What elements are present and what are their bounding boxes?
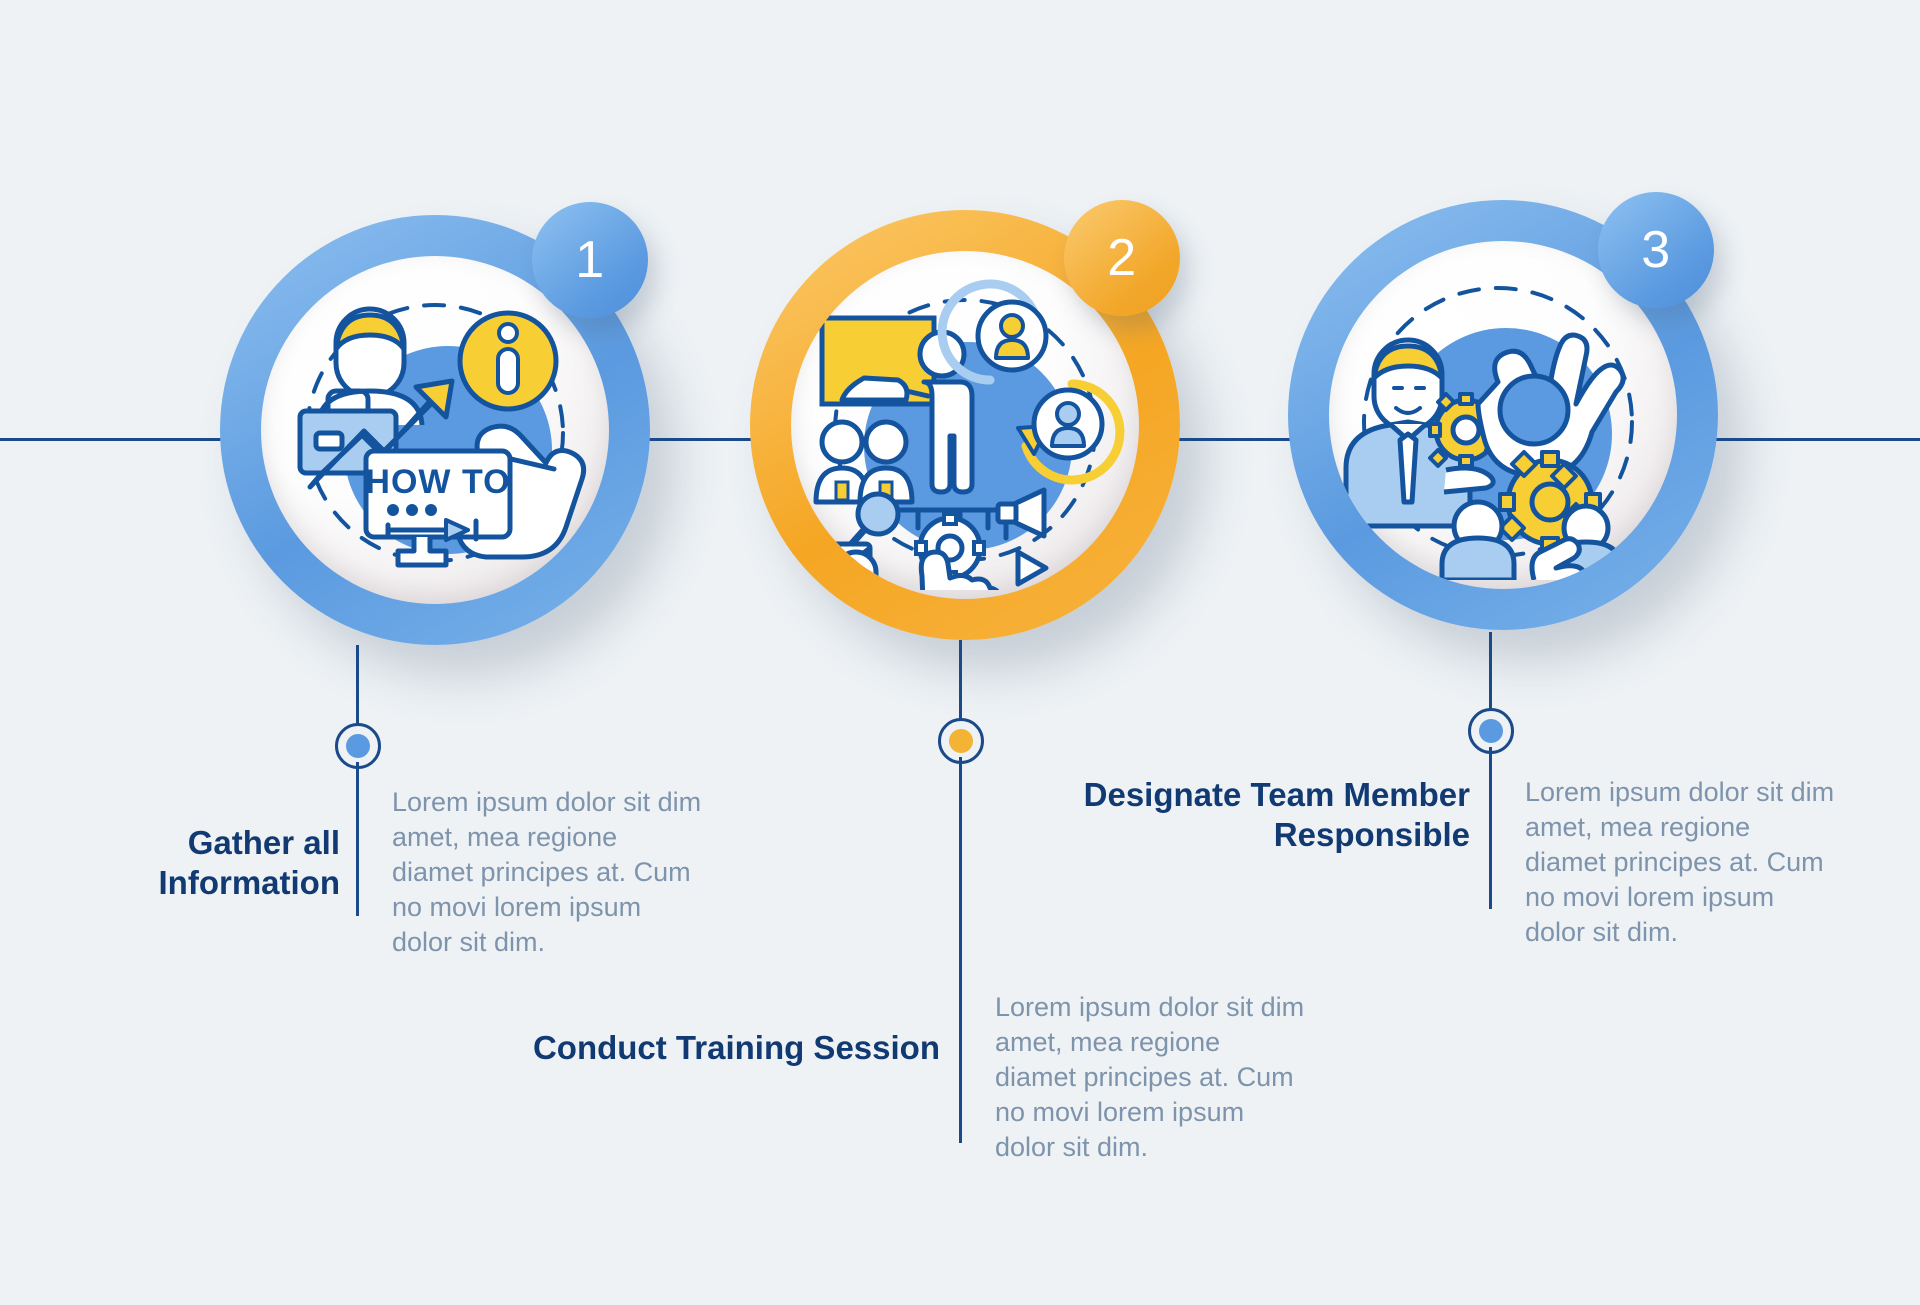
step-stem-top-3 bbox=[1489, 632, 1492, 714]
step-number-badge-3[interactable]: 3 bbox=[1598, 192, 1714, 308]
how-to-information-icon: HOW TO bbox=[270, 265, 600, 595]
training-presentation-icon bbox=[800, 260, 1130, 590]
svg-text:HOW TO: HOW TO bbox=[365, 463, 510, 501]
step-title-1: Gather all Information bbox=[120, 823, 340, 902]
step-stem-top-1 bbox=[356, 645, 359, 730]
step-stem-bottom-2 bbox=[959, 757, 962, 1143]
step-stem-top-2 bbox=[959, 640, 962, 724]
step-marker-dot-1 bbox=[346, 734, 370, 758]
step-title-2: Conduct Training Session bbox=[530, 1028, 940, 1068]
step-title-3: Designate Team Member Responsible bbox=[1070, 775, 1470, 854]
step-body-1: Lorem ipsum dolor sit dim amet, mea regi… bbox=[392, 785, 702, 960]
step-stem-bottom-3 bbox=[1489, 747, 1492, 909]
infographic-canvas: HOW TO 1 Gather all Information Lorem ip… bbox=[0, 0, 1920, 1305]
step-number-badge-1[interactable]: 1 bbox=[532, 202, 648, 318]
step-marker-dot-3 bbox=[1479, 719, 1503, 743]
step-number-badge-2[interactable]: 2 bbox=[1064, 200, 1180, 316]
team-responsibility-gears-icon bbox=[1338, 250, 1668, 580]
step-stem-bottom-1 bbox=[356, 762, 359, 916]
step-body-3: Lorem ipsum dolor sit dim amet, mea regi… bbox=[1525, 775, 1835, 950]
step-marker-dot-2 bbox=[949, 729, 973, 753]
step-body-2: Lorem ipsum dolor sit dim amet, mea regi… bbox=[995, 990, 1305, 1165]
